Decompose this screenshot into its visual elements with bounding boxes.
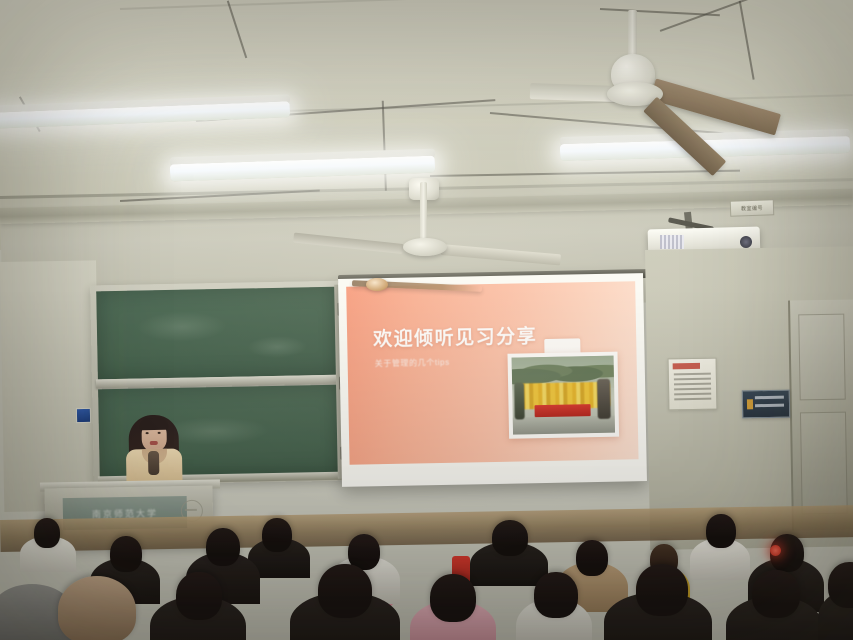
audience-head	[176, 572, 222, 620]
audience-head	[110, 536, 142, 572]
audience-head	[636, 564, 688, 616]
slide-subtitle: 关于管理的几个tips	[375, 357, 450, 369]
door-panel	[800, 412, 848, 515]
audience-head	[752, 570, 800, 618]
blue-wall-plate	[76, 408, 91, 423]
presenter-eye	[158, 432, 161, 434]
presenter-scarf	[148, 451, 159, 475]
chalk-smudge	[137, 311, 228, 343]
fan-hub	[403, 238, 447, 256]
photo-figure	[514, 382, 525, 419]
left-wall	[0, 260, 100, 512]
audience-head	[534, 572, 578, 618]
audience-head	[58, 576, 136, 640]
classroom-door[interactable]	[788, 299, 853, 530]
poster-heading	[673, 363, 712, 370]
chalkboard-panel-upper	[96, 287, 341, 380]
poster-body-lines	[674, 373, 711, 401]
audience-head	[492, 520, 528, 556]
slide-photo-content	[512, 356, 615, 435]
presenter-mouth	[150, 441, 158, 445]
ceiling-fan-icon	[575, 10, 775, 130]
wall-notice-sign	[742, 390, 790, 419]
ceiling-fan-icon	[355, 168, 585, 283]
room-number-sign: 教室编号	[730, 199, 775, 217]
wall-poster	[668, 358, 718, 411]
slide-surface: 欢迎倾听见习分享 关于管理的几个tips	[346, 281, 638, 465]
audience-head	[318, 564, 372, 618]
audience-head	[206, 528, 240, 566]
slide-title: 欢迎倾听见习分享	[373, 321, 538, 351]
fan-rod	[628, 10, 637, 60]
projector-vent	[660, 235, 684, 249]
projector-lens	[740, 236, 752, 248]
lecture-hall-photo: 南京师范大学 欢迎倾听见习分享 关于管理的几个tips	[0, 0, 853, 640]
audience-head	[828, 562, 853, 608]
chalk-smudge	[247, 335, 307, 358]
audience-head	[576, 540, 608, 576]
sign-badge	[747, 399, 753, 409]
photo-figure	[597, 379, 611, 419]
audience-head	[262, 518, 292, 552]
presenter-eye	[146, 432, 149, 434]
photo-red-banner	[535, 404, 590, 417]
slide-photo	[507, 352, 619, 439]
fan-blade	[441, 244, 562, 265]
projection-screen: 欢迎倾听见习分享 关于管理的几个tips	[338, 273, 647, 487]
audience-head	[430, 574, 476, 622]
fan-rod	[420, 182, 427, 244]
presenter-fringe	[139, 418, 168, 431]
door-panel	[798, 314, 845, 401]
fan-light-fixture	[366, 278, 388, 291]
audience	[0, 500, 853, 640]
audience-head	[706, 514, 736, 548]
fan-blade	[530, 83, 616, 102]
audience-head	[34, 518, 60, 548]
indicator-lamp-icon	[770, 545, 781, 556]
